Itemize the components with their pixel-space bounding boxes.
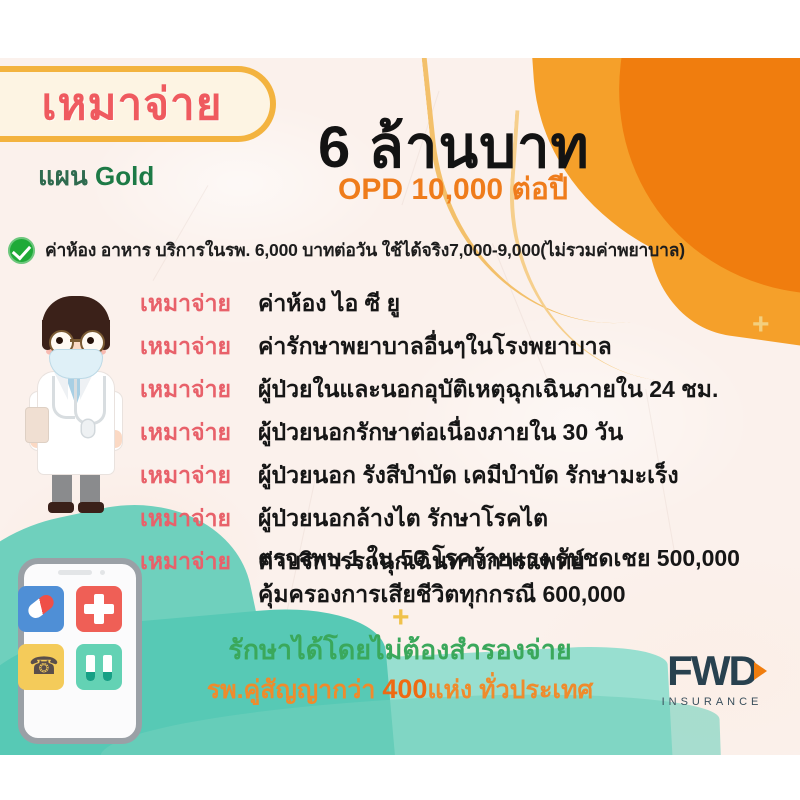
plan-name: แผน Gold	[38, 156, 154, 197]
fwd-logo: FWD INSURANCE	[648, 650, 776, 708]
network-suffix: แห่ง ทั่วประเทศ	[427, 676, 593, 704]
test-tubes-tile	[76, 644, 122, 690]
room-rate-row: ค่าห้อง อาหาร บริการในรพ. 6,000 บาทต่อวั…	[8, 236, 685, 264]
test-tubes-icon	[86, 655, 95, 681]
plan-prefix: แผน	[38, 161, 95, 191]
critical-illness-line: ตรวจพบ 1 ใน 50 โรคร้ายแรง รับชดเชย 500,0…	[258, 541, 740, 577]
green-check-icon	[8, 237, 35, 264]
glasses-bridge-icon	[70, 339, 81, 342]
benefit-value: ค่ารักษาพยาบาลอื่นๆในโรงพยาบาล	[258, 329, 612, 365]
life-coverage-line: คุ้มครองการเสียชีวิตทุกกรณี 600,000	[258, 577, 626, 613]
doctor-shoe-left	[48, 502, 74, 513]
room-rate-text: ค่าห้อง อาหาร บริการในรพ. 6,000 บาทต่อวั…	[45, 236, 685, 264]
benefit-label: เหมาจ่าย	[140, 501, 258, 537]
phone-medical-app-illustration: ☎	[18, 558, 142, 744]
pill-capsule-tile	[18, 586, 64, 632]
texture-line	[153, 185, 209, 281]
clipboard-icon	[26, 408, 48, 442]
benefit-row: เหมาจ่าย ค่าห้อง ไอ ซี ยู	[140, 286, 718, 322]
insurance-poster: เหมาจ่าย แผน Gold 6 ล้านบาท OPD 10,000 ต…	[0, 58, 800, 755]
benefit-row: เหมาจ่าย ค่ารักษาพยาบาลอื่นๆในโรงพยาบาล	[140, 329, 718, 365]
pill-capsule-icon	[25, 592, 56, 621]
medical-cross-tile	[76, 586, 122, 632]
phone-handset-icon: ☎	[29, 655, 53, 679]
benefit-row: เหมาจ่าย ผู้ป่วยนอก รังสีบำบัด เคมีบำบัด…	[140, 458, 718, 494]
benefit-label: เหมาจ่าย	[140, 458, 258, 494]
doctor-shoe-right	[78, 502, 104, 513]
benefit-value: ผู้ป่วยในและนอกอุบัติเหตุฉุกเฉินภายใน 24…	[258, 372, 718, 408]
test-tubes-icon	[103, 655, 112, 681]
network-prefix: รพ.คู่สัญญากว่า	[207, 676, 383, 704]
benefit-value: ค่าห้อง ไอ ซี ยู	[258, 286, 400, 322]
benefit-label: เหมาจ่าย	[140, 286, 258, 322]
medical-cross-icon	[84, 604, 114, 614]
headline-tag-badge: เหมาจ่าย	[0, 66, 276, 142]
phone-call-tile: ☎	[18, 644, 64, 690]
network-count: 400	[382, 674, 427, 704]
fwd-wordmark: FWD	[648, 650, 776, 692]
doctor-eye-right	[87, 337, 94, 344]
benefit-value: ผู้ป่วยนอกรักษาต่อเนื่องภายใน 30 วัน	[258, 415, 623, 451]
stethoscope-icon	[52, 376, 75, 419]
doctor-eye-left	[56, 337, 63, 344]
fwd-logo-subtitle: INSURANCE	[648, 696, 776, 708]
phone-camera	[100, 570, 105, 575]
benefit-row: เหมาจ่าย ผู้ป่วยนอกรักษาต่อเนื่องภายใน 3…	[140, 415, 718, 451]
benefit-row: เหมาจ่าย ผู้ป่วยในและนอกอุบัติเหตุฉุกเฉิ…	[140, 372, 718, 408]
benefit-label: เหมาจ่าย	[140, 544, 258, 580]
plan-gold-label: Gold	[95, 161, 154, 191]
stethoscope-icon	[74, 376, 106, 425]
doctor-illustration	[18, 280, 134, 512]
fwd-logo-text: FWD	[667, 647, 757, 694]
stethoscope-bell-icon	[82, 420, 94, 437]
benefit-value: ผู้ป่วยนอกล้างไต รักษาโรคไต	[258, 501, 548, 537]
benefit-value: ผู้ป่วยนอก รังสีบำบัด เคมีบำบัด รักษามะเ…	[258, 458, 679, 494]
benefit-label: เหมาจ่าย	[140, 329, 258, 365]
benefit-label: เหมาจ่าย	[140, 415, 258, 451]
phone-speaker	[58, 570, 92, 575]
benefit-label: เหมาจ่าย	[140, 372, 258, 408]
plus-decoration-icon: +	[752, 310, 770, 340]
opd-amount: OPD 10,000 ต่อปี	[338, 166, 568, 213]
headline-tag-label: เหมาจ่าย	[7, 69, 222, 139]
benefit-row: เหมาจ่าย ผู้ป่วยนอกล้างไต รักษาโรคไต	[140, 501, 718, 537]
play-triangle-icon	[754, 662, 767, 680]
